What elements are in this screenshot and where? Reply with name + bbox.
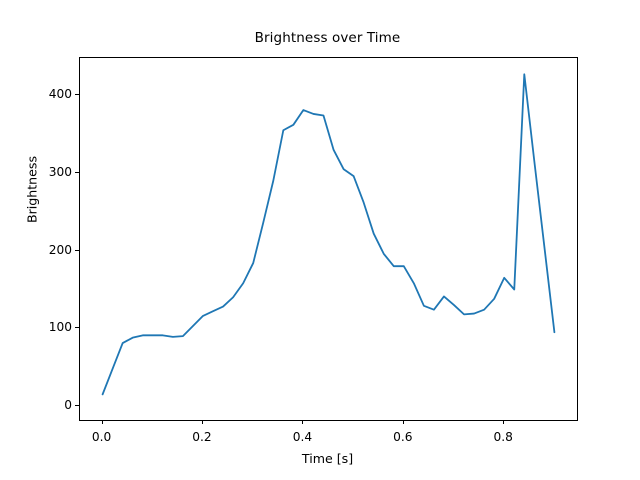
- x-tick-label: 0.8: [478, 430, 528, 444]
- x-tick-mark: [102, 420, 103, 424]
- y-tick-label: 0: [32, 398, 72, 412]
- x-tick-mark: [503, 420, 504, 424]
- x-tick-mark: [403, 420, 404, 424]
- y-tick-mark: [75, 250, 79, 251]
- y-tick-mark: [75, 94, 79, 95]
- x-axis-label: Time [s]: [79, 451, 576, 466]
- figure-canvas: Brightness over Time Brightness 01002003…: [0, 0, 640, 480]
- x-tick-label: 0.2: [177, 430, 227, 444]
- x-tick-mark: [302, 420, 303, 424]
- y-tick-mark: [75, 327, 79, 328]
- chart-title: Brightness over Time: [79, 30, 576, 46]
- y-tick-label: 400: [32, 87, 72, 101]
- line-series-svg: [80, 58, 577, 420]
- brightness-line: [103, 74, 555, 394]
- y-tick-label: 100: [32, 320, 72, 334]
- x-tick-mark: [202, 420, 203, 424]
- x-tick-label: 0.0: [77, 430, 127, 444]
- y-axis-tick-labels: 0100200300400: [27, 57, 72, 419]
- x-tick-label: 0.6: [378, 430, 428, 444]
- y-tick-label: 200: [32, 243, 72, 257]
- y-tick-label: 300: [32, 165, 72, 179]
- y-tick-mark: [75, 405, 79, 406]
- plot-axes: [79, 57, 578, 421]
- y-tick-mark: [75, 172, 79, 173]
- x-axis-tick-labels: 0.00.20.40.60.8: [79, 424, 576, 446]
- x-tick-label: 0.4: [277, 430, 327, 444]
